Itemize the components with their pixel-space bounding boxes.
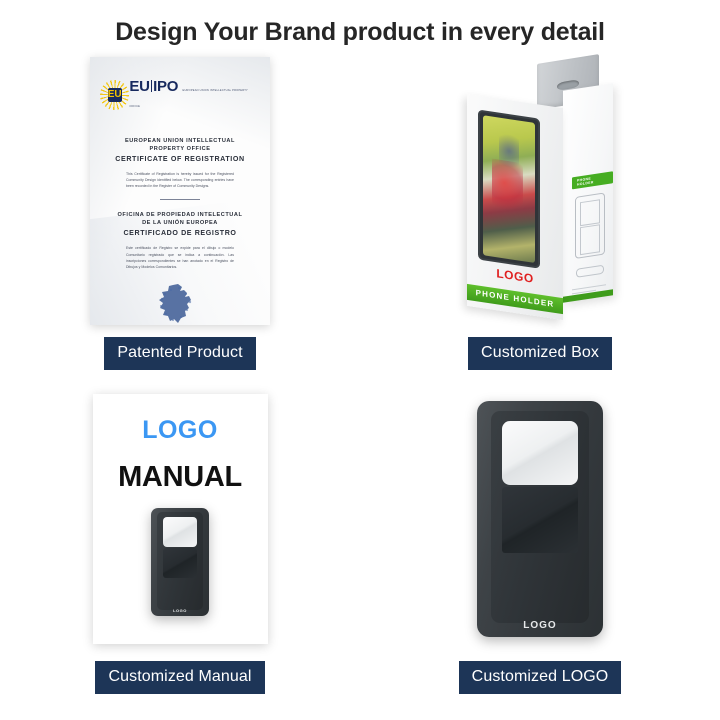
manual-cover: LOGO MANUAL LOGO [93,394,268,644]
manual-device-window [163,517,197,547]
certificate-heading-en-line2: PROPERTY OFFICE [104,145,256,153]
box-front-panel: LOGO PHONE HOLDER [467,94,563,320]
certificate-media: EU EUIPO EUROPEAN UNION INTELLECTUAL PRO… [0,55,360,327]
euipo-wordmark-ipo: IPO [153,78,178,95]
certificate-divider [160,199,200,200]
retail-box-media: PHONE HOLDER LOGO PHONE HOLDER [360,55,720,327]
euipo-wordmark-eu: EU [129,78,149,95]
manual-device-panel [163,548,197,578]
retail-box: PHONE HOLDER LOGO PHONE HOLDER [445,57,635,325]
caption-customized-manual: Customized Manual [95,661,264,694]
showcase-grid: EU EUIPO EUROPEAN UNION INTELLECTUAL PRO… [0,55,720,715]
showcase-cell-customized-box: PHONE HOLDER LOGO PHONE HOLDER [360,55,720,385]
showcase-cell-customized-manual: LOGO MANUAL LOGO Customized Manual [0,385,360,715]
box-display-window [478,109,540,268]
showcase-cell-customized-logo: LOGO Customized LOGO [360,385,720,715]
caption-patented-product: Patented Product [104,337,255,370]
certificate-heading-en-line1: EUROPEAN UNION INTELLECTUAL [104,137,256,145]
certificate-heading-es-line1: OFICINA DE PROPIEDAD INTELECTUAL [104,211,256,219]
manual-title: MANUAL [118,461,242,494]
product-device-logo: LOGO [477,620,603,631]
euipo-logo: EU EUIPO EUROPEAN UNION INTELLECTUAL PRO… [104,79,256,111]
product-media: LOGO [360,385,720,653]
certificate-body-en: This Certificate of Registration is here… [126,171,234,189]
certificate-body-es: Este certificado de Registro se expide p… [126,245,234,270]
box-side-panel: PHONE HOLDER [563,83,613,302]
europe-map-icon [104,282,256,325]
certificate-heading-en-line3: CERTIFICATE OF REGISTRATION [104,154,256,164]
euipo-starburst-icon: EU [104,84,125,106]
page-title: Design Your Brand product in every detai… [0,0,720,47]
caption-customized-box: Customized Box [468,337,612,370]
box-side-technical-drawing-secondary [576,265,604,278]
box-side-green-label: PHONE HOLDER [572,171,613,189]
euipo-wordmark: EUIPO EUROPEAN UNION INTELLECTUAL PROPER… [129,79,256,111]
euipo-certificate: EU EUIPO EUROPEAN UNION INTELLECTUAL PRO… [90,57,270,325]
product-device-face [491,411,589,623]
showcase-cell-patented-product: EU EUIPO EUROPEAN UNION INTELLECTUAL PRO… [0,55,360,385]
manual-device-logo: LOGO [151,608,209,613]
manual-product-illustration: LOGO [151,508,209,616]
manual-media: LOGO MANUAL LOGO [0,385,360,653]
product-device-panel [502,487,578,553]
caption-customized-logo: Customized LOGO [459,661,622,694]
certificate-heading-es-line2: DE LA UNIÓN EUROPEA [104,219,256,227]
manual-logo: LOGO [142,416,218,445]
product-showcase-page: Design Your Brand product in every detai… [0,0,720,720]
phone-holder-product: LOGO [477,401,603,637]
box-side-technical-drawing [575,192,605,258]
box-product-name-band: PHONE HOLDER [467,284,563,314]
product-device-window [502,421,578,485]
euipo-mark-letters: EU [108,88,122,102]
certificate-heading-es-line3: CERTIFICADO DE REGISTRO [104,228,256,238]
phone-screen-image [483,115,535,263]
manual-device-face [157,512,203,610]
